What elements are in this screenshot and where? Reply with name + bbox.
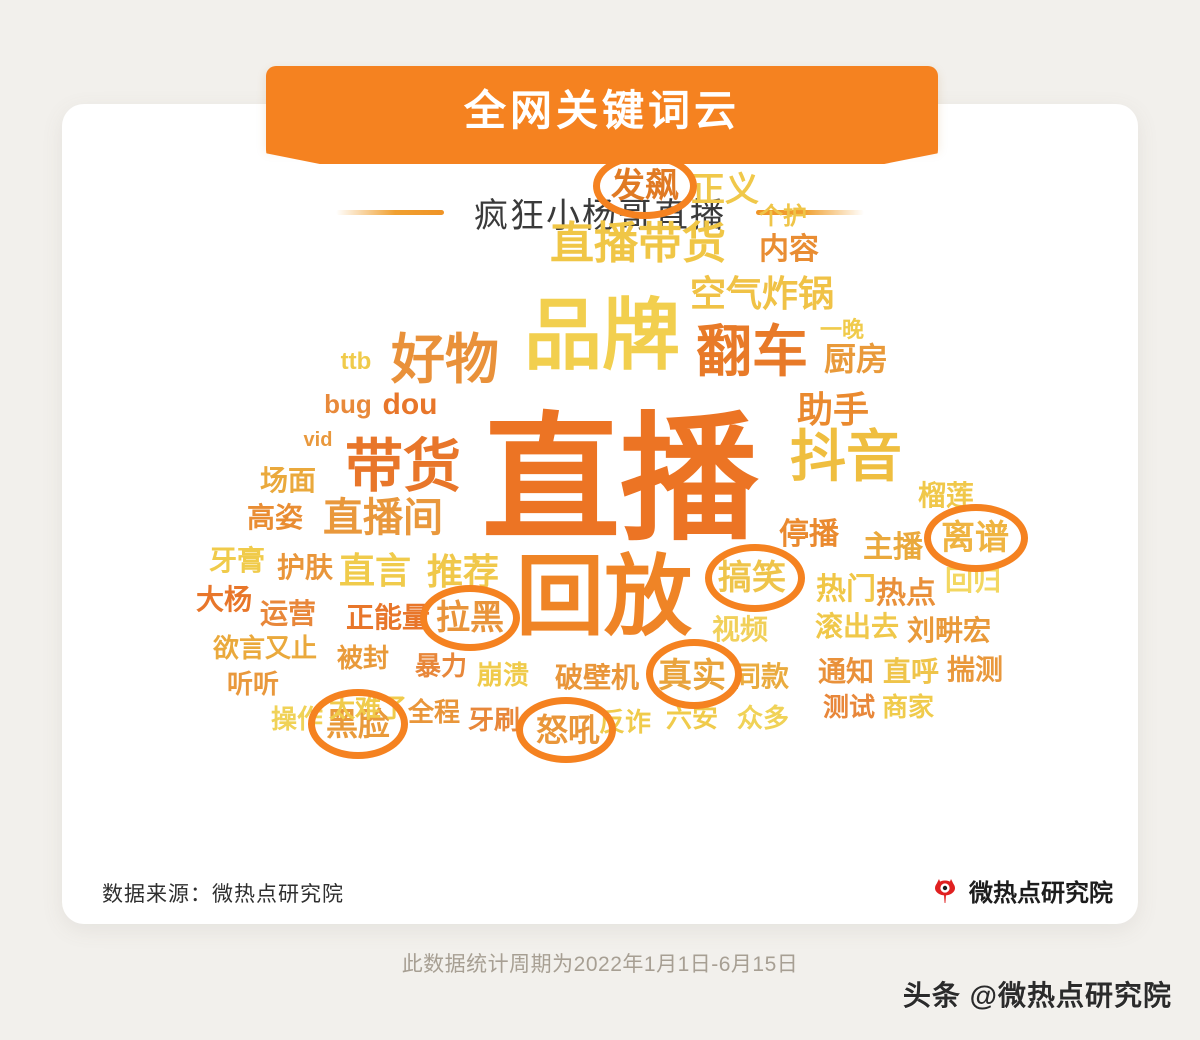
word-cloud-term: 翻车 xyxy=(696,324,808,380)
word-cloud-term: vid xyxy=(304,430,333,450)
word-cloud-term: 直播带货 xyxy=(550,222,726,266)
word-cloud-term: 六安 xyxy=(666,705,718,731)
word-cloud-term: 搞笑 xyxy=(718,561,786,595)
word-cloud-term: 全程 xyxy=(408,699,460,725)
word-cloud-term: 破壁机 xyxy=(555,664,639,692)
word-cloud-term: 好物 xyxy=(391,333,499,387)
word-cloud-term: 高姿 xyxy=(247,504,303,532)
word-cloud-term: 推荐 xyxy=(427,554,499,590)
watermark: 头条 @微热点研究院 xyxy=(903,974,1172,1014)
word-cloud-term: 正义 xyxy=(691,173,759,207)
word-cloud-term: 被封 xyxy=(337,645,389,671)
word-cloud-term: 热门 xyxy=(816,575,876,605)
brand-logo: 微热点研究院 xyxy=(932,873,1113,908)
word-cloud-term: 内容 xyxy=(759,235,819,265)
word-cloud-term: 测试 xyxy=(823,694,875,720)
word-cloud-term: 品牌 xyxy=(524,296,680,374)
word-cloud-term: bug xyxy=(324,391,372,417)
word-cloud: 直播回放品牌带货翻车抖音好物直播带货直播间空气炸锅助手推荐直言厨房发飙拉黑搞笑离… xyxy=(62,104,1138,924)
word-cloud-term: 热点 xyxy=(876,579,936,609)
word-cloud-term: 直播 xyxy=(482,411,758,549)
word-cloud-term: 欲言又止 xyxy=(213,635,317,661)
word-cloud-term: 刘畊宏 xyxy=(907,617,991,645)
word-cloud-term: 视频 xyxy=(712,616,768,644)
word-cloud-term: 操作 xyxy=(271,706,323,732)
word-cloud-term: 怒吼 xyxy=(536,714,600,746)
word-cloud-term: 个护 xyxy=(759,205,807,229)
word-cloud-term: 直言 xyxy=(339,553,411,589)
page-title: 全网关键词云 xyxy=(464,77,740,138)
word-cloud-term: ttb xyxy=(341,350,372,374)
word-cloud-term: 通知 xyxy=(818,658,874,686)
word-cloud-term: 主播 xyxy=(863,533,923,563)
word-cloud-term: 回放 xyxy=(516,553,692,641)
word-cloud-term: 滚出去 xyxy=(815,613,899,641)
data-source-label: 数据来源：微热点研究院 xyxy=(102,878,344,908)
word-cloud-term: 暴力 xyxy=(415,653,467,679)
word-cloud-term: 听听 xyxy=(227,671,279,697)
word-cloud-term: 榴莲 xyxy=(918,482,974,510)
word-cloud-term: 太难了 xyxy=(329,695,407,721)
word-cloud-term: 运营 xyxy=(260,600,316,628)
word-cloud-term: 揣测 xyxy=(947,656,1003,684)
word-cloud-term: 抖音 xyxy=(790,429,902,485)
header-banner: 全网关键词云 xyxy=(266,66,938,148)
word-cloud-term: 大杨 xyxy=(196,586,252,614)
word-cloud-term: 崩溃 xyxy=(477,662,529,688)
word-cloud-term: 正能量 xyxy=(346,604,430,632)
word-cloud-term: 牙膏 xyxy=(209,547,265,575)
word-cloud-term: 助手 xyxy=(797,392,869,428)
word-cloud-term: 反诈 xyxy=(599,709,651,735)
word-cloud-term: 发飙 xyxy=(611,169,679,203)
word-cloud-term: 停播 xyxy=(779,520,839,550)
word-cloud-term: 一晚 xyxy=(820,319,864,341)
word-cloud-term: 护肤 xyxy=(277,554,333,582)
word-cloud-term: 空气炸锅 xyxy=(690,276,834,312)
word-cloud-term: 拉黑 xyxy=(436,601,504,635)
word-cloud-term: 直呼 xyxy=(883,658,939,686)
word-cloud-term: 牙刷 xyxy=(468,707,520,733)
word-cloud-term: 商家 xyxy=(882,694,934,720)
word-cloud-term: 回归 xyxy=(945,567,1001,595)
word-cloud-term: 厨房 xyxy=(824,343,888,375)
brand-logo-text: 微热点研究院 xyxy=(969,873,1113,908)
word-cloud-term: 离谱 xyxy=(941,521,1009,555)
word-cloud-term: 同款 xyxy=(733,663,789,691)
weibo-eye-icon xyxy=(932,876,962,906)
word-cloud-term: 带货 xyxy=(345,438,461,496)
word-cloud-term: dou xyxy=(383,390,438,420)
word-cloud-term: 真实 xyxy=(658,659,726,693)
word-cloud-term: 直播间 xyxy=(323,498,443,538)
word-cloud-term: 众多 xyxy=(737,705,789,731)
word-cloud-term: 场面 xyxy=(260,467,316,495)
